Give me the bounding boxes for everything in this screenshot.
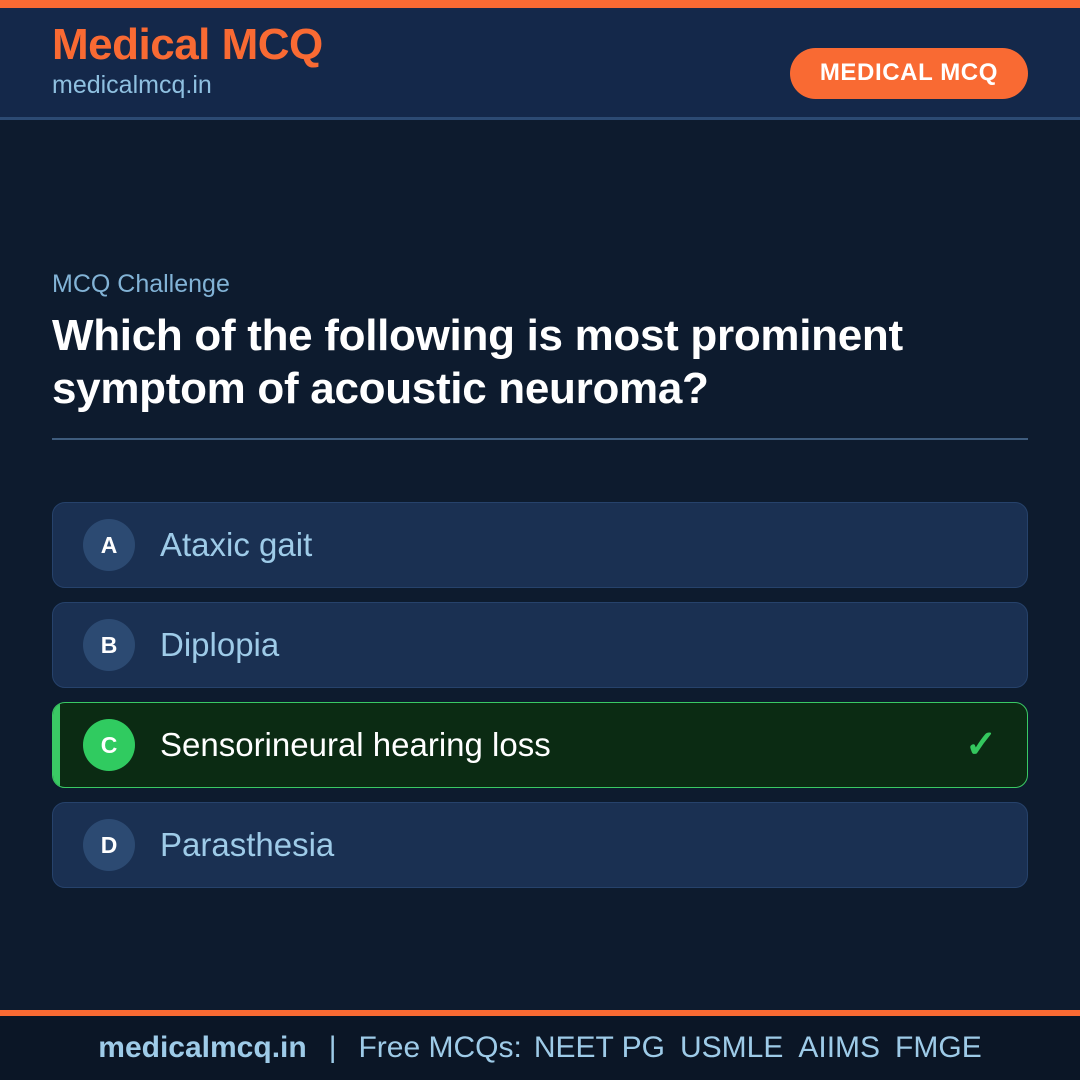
- option-letter-badge: D: [83, 819, 135, 871]
- brand-subtitle: medicalmcq.in: [52, 70, 323, 100]
- correct-accent-bar: [53, 703, 60, 788]
- footer-exam-neet-pg[interactable]: NEET PG: [534, 1031, 665, 1065]
- footer-exam-usmle[interactable]: USMLE: [680, 1031, 783, 1065]
- main-content: MCQ Challenge Which of the following is …: [0, 123, 1080, 1010]
- option-label: Diplopia: [160, 627, 279, 663]
- footer-label: Free MCQs:: [358, 1031, 521, 1065]
- footer-exam-fmge[interactable]: FMGE: [895, 1031, 982, 1065]
- question-divider: [52, 438, 1028, 440]
- option-row-c[interactable]: C Sensorineural hearing loss ✓: [52, 702, 1028, 788]
- option-letter-badge: C: [83, 719, 135, 771]
- brand-title: Medical MCQ: [52, 22, 323, 68]
- option-label: Parasthesia: [160, 827, 334, 863]
- top-accent-bar: [0, 0, 1080, 8]
- option-letter-badge: A: [83, 519, 135, 571]
- check-icon: ✓: [965, 726, 997, 764]
- option-label: Sensorineural hearing loss: [160, 727, 551, 763]
- footer-exam-aiims[interactable]: AIIMS: [798, 1031, 880, 1065]
- footer-separator: |: [329, 1031, 337, 1065]
- site-header: Medical MCQ medicalmcq.in MEDICAL MCQ: [0, 8, 1080, 120]
- brand: Medical MCQ medicalmcq.in: [52, 22, 323, 100]
- option-label: Ataxic gait: [160, 527, 312, 563]
- question-kicker: MCQ Challenge: [52, 271, 1028, 299]
- option-row-b[interactable]: B Diplopia: [52, 602, 1028, 688]
- option-letter-badge: B: [83, 619, 135, 671]
- question-text: Which of the following is most prominent…: [52, 309, 1028, 416]
- question-block: MCQ Challenge Which of the following is …: [52, 271, 1028, 440]
- options-list: A Ataxic gait B Diplopia C Sensorineural…: [52, 502, 1028, 902]
- footer-site-link[interactable]: medicalmcq.in: [98, 1031, 306, 1065]
- footer-row: medicalmcq.in | Free MCQs: NEET PG USMLE…: [98, 1031, 981, 1065]
- option-row-d[interactable]: D Parasthesia: [52, 802, 1028, 888]
- header-badge-pill: MEDICAL MCQ: [790, 48, 1028, 99]
- option-row-a[interactable]: A Ataxic gait: [52, 502, 1028, 588]
- site-footer: medicalmcq.in | Free MCQs: NEET PG USMLE…: [0, 1016, 1080, 1080]
